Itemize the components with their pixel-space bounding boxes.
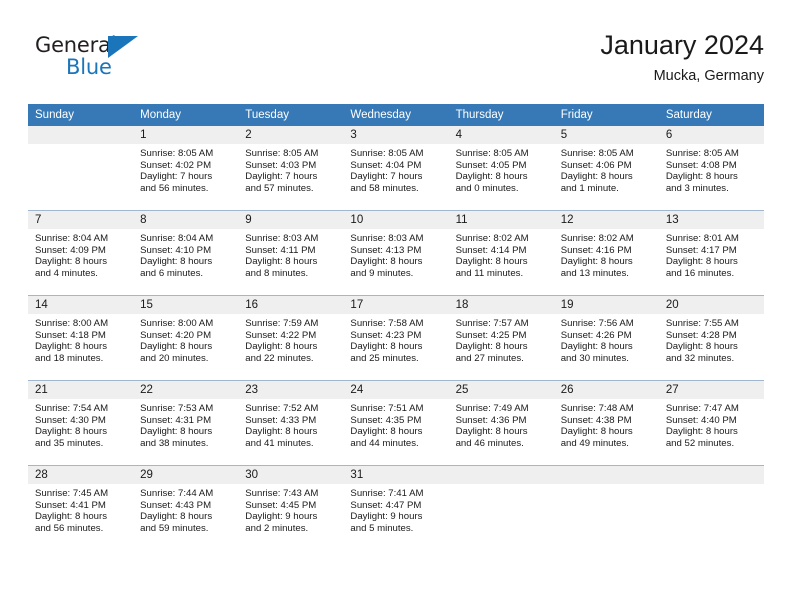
- day-cell-inner: [449, 466, 554, 550]
- calendar-day-cell[interactable]: 9Sunrise: 8:03 AMSunset: 4:11 PMDaylight…: [238, 211, 343, 296]
- day-details: Sunrise: 7:49 AMSunset: 4:36 PMDaylight:…: [449, 399, 554, 449]
- daylight-duration-line2: and 58 minutes.: [350, 183, 442, 195]
- calendar-week-row: 1Sunrise: 8:05 AMSunset: 4:02 PMDaylight…: [28, 126, 764, 211]
- calendar-day-cell-empty: [28, 126, 133, 211]
- sunset-time: Sunset: 4:02 PM: [140, 160, 232, 172]
- day-cell-inner: 27Sunrise: 7:47 AMSunset: 4:40 PMDayligh…: [659, 381, 764, 465]
- day-cell-inner: 29Sunrise: 7:44 AMSunset: 4:43 PMDayligh…: [133, 466, 238, 550]
- logo-text-blue: Blue: [66, 54, 112, 80]
- day-details: Sunrise: 7:41 AMSunset: 4:47 PMDaylight:…: [343, 484, 448, 534]
- calendar-day-cell[interactable]: 5Sunrise: 8:05 AMSunset: 4:06 PMDaylight…: [554, 126, 659, 211]
- weekday-header-friday: Friday: [554, 104, 659, 126]
- sunrise-time: Sunrise: 8:05 AM: [666, 148, 758, 160]
- sunset-time: Sunset: 4:04 PM: [350, 160, 442, 172]
- daylight-duration-line2: and 30 minutes.: [561, 353, 653, 365]
- calendar-day-cell[interactable]: 1Sunrise: 8:05 AMSunset: 4:02 PMDaylight…: [133, 126, 238, 211]
- day-cell-inner: 22Sunrise: 7:53 AMSunset: 4:31 PMDayligh…: [133, 381, 238, 465]
- sunrise-time: Sunrise: 8:04 AM: [35, 233, 127, 245]
- calendar-day-cell[interactable]: 31Sunrise: 7:41 AMSunset: 4:47 PMDayligh…: [343, 466, 448, 551]
- day-cell-inner: 24Sunrise: 7:51 AMSunset: 4:35 PMDayligh…: [343, 381, 448, 465]
- calendar-day-cell[interactable]: 10Sunrise: 8:03 AMSunset: 4:13 PMDayligh…: [343, 211, 448, 296]
- sunset-time: Sunset: 4:11 PM: [245, 245, 337, 257]
- daylight-duration-line1: Daylight: 8 hours: [456, 426, 548, 438]
- day-details: Sunrise: 7:47 AMSunset: 4:40 PMDaylight:…: [659, 399, 764, 449]
- day-details: Sunrise: 8:05 AMSunset: 4:08 PMDaylight:…: [659, 144, 764, 194]
- calendar-day-cell[interactable]: 24Sunrise: 7:51 AMSunset: 4:35 PMDayligh…: [343, 381, 448, 466]
- daylight-duration-line2: and 46 minutes.: [456, 438, 548, 450]
- day-details: Sunrise: 7:58 AMSunset: 4:23 PMDaylight:…: [343, 314, 448, 364]
- day-cell-inner: 14Sunrise: 8:00 AMSunset: 4:18 PMDayligh…: [28, 296, 133, 380]
- day-number: 18: [449, 296, 554, 314]
- day-number: 27: [659, 381, 764, 399]
- calendar-week-row: 21Sunrise: 7:54 AMSunset: 4:30 PMDayligh…: [28, 381, 764, 466]
- day-number: [659, 466, 764, 484]
- sunrise-time: Sunrise: 7:55 AM: [666, 318, 758, 330]
- day-number: 4: [449, 126, 554, 144]
- calendar-day-cell[interactable]: 26Sunrise: 7:48 AMSunset: 4:38 PMDayligh…: [554, 381, 659, 466]
- sunrise-time: Sunrise: 7:51 AM: [350, 403, 442, 415]
- daylight-duration-line2: and 27 minutes.: [456, 353, 548, 365]
- calendar-day-cell[interactable]: 6Sunrise: 8:05 AMSunset: 4:08 PMDaylight…: [659, 126, 764, 211]
- page-header: General Blue January 2024 Mucka, Germany: [28, 28, 764, 98]
- day-number: 16: [238, 296, 343, 314]
- daylight-duration-line2: and 49 minutes.: [561, 438, 653, 450]
- daylight-duration-line2: and 2 minutes.: [245, 523, 337, 535]
- day-details: Sunrise: 8:05 AMSunset: 4:05 PMDaylight:…: [449, 144, 554, 194]
- day-number: 1: [133, 126, 238, 144]
- calendar-day-cell[interactable]: 8Sunrise: 8:04 AMSunset: 4:10 PMDaylight…: [133, 211, 238, 296]
- calendar-body: 1Sunrise: 8:05 AMSunset: 4:02 PMDaylight…: [28, 126, 764, 550]
- day-cell-inner: 26Sunrise: 7:48 AMSunset: 4:38 PMDayligh…: [554, 381, 659, 465]
- sunset-time: Sunset: 4:25 PM: [456, 330, 548, 342]
- daylight-duration-line2: and 35 minutes.: [35, 438, 127, 450]
- daylight-duration-line2: and 56 minutes.: [140, 183, 232, 195]
- sunset-time: Sunset: 4:20 PM: [140, 330, 232, 342]
- daylight-duration-line1: Daylight: 8 hours: [561, 171, 653, 183]
- daylight-duration-line2: and 1 minute.: [561, 183, 653, 195]
- daylight-duration-line2: and 3 minutes.: [666, 183, 758, 195]
- day-cell-inner: 1Sunrise: 8:05 AMSunset: 4:02 PMDaylight…: [133, 126, 238, 210]
- day-cell-inner: 8Sunrise: 8:04 AMSunset: 4:10 PMDaylight…: [133, 211, 238, 295]
- sunset-time: Sunset: 4:35 PM: [350, 415, 442, 427]
- sunrise-time: Sunrise: 8:05 AM: [350, 148, 442, 160]
- daylight-duration-line2: and 4 minutes.: [35, 268, 127, 280]
- sunrise-time: Sunrise: 7:57 AM: [456, 318, 548, 330]
- day-details: Sunrise: 7:52 AMSunset: 4:33 PMDaylight:…: [238, 399, 343, 449]
- calendar-day-cell[interactable]: 28Sunrise: 7:45 AMSunset: 4:41 PMDayligh…: [28, 466, 133, 551]
- page-subtitle-location: Mucka, Germany: [600, 65, 764, 87]
- daylight-duration-line2: and 22 minutes.: [245, 353, 337, 365]
- sunset-time: Sunset: 4:08 PM: [666, 160, 758, 172]
- daylight-duration-line2: and 6 minutes.: [140, 268, 232, 280]
- day-cell-inner: [28, 126, 133, 210]
- daylight-duration-line2: and 56 minutes.: [35, 523, 127, 535]
- day-number: 20: [659, 296, 764, 314]
- daylight-duration-line1: Daylight: 8 hours: [666, 426, 758, 438]
- weekday-header-saturday: Saturday: [659, 104, 764, 126]
- daylight-duration-line1: Daylight: 8 hours: [456, 171, 548, 183]
- sunrise-time: Sunrise: 7:58 AM: [350, 318, 442, 330]
- day-cell-inner: 4Sunrise: 8:05 AMSunset: 4:05 PMDaylight…: [449, 126, 554, 210]
- calendar-day-cell[interactable]: 21Sunrise: 7:54 AMSunset: 4:30 PMDayligh…: [28, 381, 133, 466]
- sunrise-time: Sunrise: 7:53 AM: [140, 403, 232, 415]
- calendar-grid: Sunday Monday Tuesday Wednesday Thursday…: [28, 104, 764, 550]
- daylight-duration-line1: Daylight: 8 hours: [666, 171, 758, 183]
- daylight-duration-line2: and 25 minutes.: [350, 353, 442, 365]
- day-cell-inner: 28Sunrise: 7:45 AMSunset: 4:41 PMDayligh…: [28, 466, 133, 550]
- day-number: 31: [343, 466, 448, 484]
- daylight-duration-line1: Daylight: 7 hours: [140, 171, 232, 183]
- day-number: 6: [659, 126, 764, 144]
- calendar-day-cell[interactable]: 18Sunrise: 7:57 AMSunset: 4:25 PMDayligh…: [449, 296, 554, 381]
- daylight-duration-line2: and 57 minutes.: [245, 183, 337, 195]
- day-details: Sunrise: 8:05 AMSunset: 4:02 PMDaylight:…: [133, 144, 238, 194]
- daylight-duration-line2: and 59 minutes.: [140, 523, 232, 535]
- daylight-duration-line1: Daylight: 8 hours: [350, 256, 442, 268]
- sunset-time: Sunset: 4:22 PM: [245, 330, 337, 342]
- calendar-week-row: 7Sunrise: 8:04 AMSunset: 4:09 PMDaylight…: [28, 211, 764, 296]
- day-details: Sunrise: 8:00 AMSunset: 4:18 PMDaylight:…: [28, 314, 133, 364]
- day-details: Sunrise: 8:01 AMSunset: 4:17 PMDaylight:…: [659, 229, 764, 279]
- daylight-duration-line1: Daylight: 8 hours: [561, 256, 653, 268]
- day-cell-inner: 17Sunrise: 7:58 AMSunset: 4:23 PMDayligh…: [343, 296, 448, 380]
- sunset-time: Sunset: 4:18 PM: [35, 330, 127, 342]
- calendar-day-cell[interactable]: 2Sunrise: 8:05 AMSunset: 4:03 PMDaylight…: [238, 126, 343, 211]
- day-number: 17: [343, 296, 448, 314]
- daylight-duration-line1: Daylight: 8 hours: [666, 256, 758, 268]
- daylight-duration-line1: Daylight: 8 hours: [140, 341, 232, 353]
- day-number: [554, 466, 659, 484]
- sunset-time: Sunset: 4:06 PM: [561, 160, 653, 172]
- day-cell-inner: 5Sunrise: 8:05 AMSunset: 4:06 PMDaylight…: [554, 126, 659, 210]
- daylight-duration-line2: and 8 minutes.: [245, 268, 337, 280]
- day-details: Sunrise: 7:54 AMSunset: 4:30 PMDaylight:…: [28, 399, 133, 449]
- sunset-time: Sunset: 4:26 PM: [561, 330, 653, 342]
- sunrise-time: Sunrise: 8:05 AM: [245, 148, 337, 160]
- calendar-day-cell[interactable]: 11Sunrise: 8:02 AMSunset: 4:14 PMDayligh…: [449, 211, 554, 296]
- daylight-duration-line1: Daylight: 9 hours: [350, 511, 442, 523]
- calendar-day-cell[interactable]: 14Sunrise: 8:00 AMSunset: 4:18 PMDayligh…: [28, 296, 133, 381]
- general-blue-logo[interactable]: General Blue: [35, 32, 155, 86]
- day-details: Sunrise: 7:56 AMSunset: 4:26 PMDaylight:…: [554, 314, 659, 364]
- daylight-duration-line2: and 52 minutes.: [666, 438, 758, 450]
- weekday-header-wednesday: Wednesday: [343, 104, 448, 126]
- day-details: Sunrise: 8:04 AMSunset: 4:10 PMDaylight:…: [133, 229, 238, 279]
- day-cell-inner: 18Sunrise: 7:57 AMSunset: 4:25 PMDayligh…: [449, 296, 554, 380]
- day-details: Sunrise: 7:51 AMSunset: 4:35 PMDaylight:…: [343, 399, 448, 449]
- calendar-day-cell[interactable]: 4Sunrise: 8:05 AMSunset: 4:05 PMDaylight…: [449, 126, 554, 211]
- day-number: 2: [238, 126, 343, 144]
- sunset-time: Sunset: 4:05 PM: [456, 160, 548, 172]
- day-details: Sunrise: 7:57 AMSunset: 4:25 PMDaylight:…: [449, 314, 554, 364]
- daylight-duration-line2: and 16 minutes.: [666, 268, 758, 280]
- daylight-duration-line1: Daylight: 8 hours: [245, 341, 337, 353]
- daylight-duration-line2: and 18 minutes.: [35, 353, 127, 365]
- sunset-time: Sunset: 4:16 PM: [561, 245, 653, 257]
- day-number: 13: [659, 211, 764, 229]
- sunset-time: Sunset: 4:47 PM: [350, 500, 442, 512]
- sunrise-time: Sunrise: 8:03 AM: [350, 233, 442, 245]
- day-number: 12: [554, 211, 659, 229]
- day-cell-inner: 16Sunrise: 7:59 AMSunset: 4:22 PMDayligh…: [238, 296, 343, 380]
- sunrise-time: Sunrise: 7:47 AM: [666, 403, 758, 415]
- calendar-week-row: 28Sunrise: 7:45 AMSunset: 4:41 PMDayligh…: [28, 466, 764, 551]
- daylight-duration-line2: and 13 minutes.: [561, 268, 653, 280]
- day-details: Sunrise: 7:59 AMSunset: 4:22 PMDaylight:…: [238, 314, 343, 364]
- sunset-time: Sunset: 4:41 PM: [35, 500, 127, 512]
- sunset-time: Sunset: 4:10 PM: [140, 245, 232, 257]
- day-number: 19: [554, 296, 659, 314]
- day-cell-inner: 9Sunrise: 8:03 AMSunset: 4:11 PMDaylight…: [238, 211, 343, 295]
- day-cell-inner: 2Sunrise: 8:05 AMSunset: 4:03 PMDaylight…: [238, 126, 343, 210]
- day-number: 28: [28, 466, 133, 484]
- daylight-duration-line1: Daylight: 8 hours: [245, 426, 337, 438]
- day-number: 25: [449, 381, 554, 399]
- sunrise-time: Sunrise: 7:48 AM: [561, 403, 653, 415]
- daylight-duration-line1: Daylight: 8 hours: [35, 256, 127, 268]
- calendar-day-cell[interactable]: 22Sunrise: 7:53 AMSunset: 4:31 PMDayligh…: [133, 381, 238, 466]
- sunrise-time: Sunrise: 8:02 AM: [456, 233, 548, 245]
- day-cell-inner: 13Sunrise: 8:01 AMSunset: 4:17 PMDayligh…: [659, 211, 764, 295]
- day-details: Sunrise: 8:03 AMSunset: 4:13 PMDaylight:…: [343, 229, 448, 279]
- daylight-duration-line2: and 20 minutes.: [140, 353, 232, 365]
- daylight-duration-line2: and 38 minutes.: [140, 438, 232, 450]
- sunrise-time: Sunrise: 8:01 AM: [666, 233, 758, 245]
- day-number: [28, 126, 133, 144]
- title-block: January 2024 Mucka, Germany: [600, 28, 764, 87]
- calendar-day-cell-empty: [449, 466, 554, 551]
- daylight-duration-line2: and 44 minutes.: [350, 438, 442, 450]
- calendar-day-cell[interactable]: 23Sunrise: 7:52 AMSunset: 4:33 PMDayligh…: [238, 381, 343, 466]
- daylight-duration-line1: Daylight: 9 hours: [245, 511, 337, 523]
- daylight-duration-line1: Daylight: 8 hours: [140, 511, 232, 523]
- daylight-duration-line1: Daylight: 8 hours: [140, 256, 232, 268]
- sunset-time: Sunset: 4:03 PM: [245, 160, 337, 172]
- day-details: Sunrise: 7:43 AMSunset: 4:45 PMDaylight:…: [238, 484, 343, 534]
- day-details: Sunrise: 8:05 AMSunset: 4:06 PMDaylight:…: [554, 144, 659, 194]
- daylight-duration-line1: Daylight: 8 hours: [245, 256, 337, 268]
- sunset-time: Sunset: 4:09 PM: [35, 245, 127, 257]
- day-details: Sunrise: 7:44 AMSunset: 4:43 PMDaylight:…: [133, 484, 238, 534]
- day-number: 9: [238, 211, 343, 229]
- sunrise-time: Sunrise: 7:44 AM: [140, 488, 232, 500]
- sunset-time: Sunset: 4:23 PM: [350, 330, 442, 342]
- day-cell-inner: 11Sunrise: 8:02 AMSunset: 4:14 PMDayligh…: [449, 211, 554, 295]
- daylight-duration-line2: and 9 minutes.: [350, 268, 442, 280]
- calendar-day-cell[interactable]: 25Sunrise: 7:49 AMSunset: 4:36 PMDayligh…: [449, 381, 554, 466]
- day-cell-inner: 30Sunrise: 7:43 AMSunset: 4:45 PMDayligh…: [238, 466, 343, 550]
- daylight-duration-line1: Daylight: 8 hours: [35, 511, 127, 523]
- daylight-duration-line2: and 32 minutes.: [666, 353, 758, 365]
- day-details: Sunrise: 8:04 AMSunset: 4:09 PMDaylight:…: [28, 229, 133, 279]
- day-cell-inner: 10Sunrise: 8:03 AMSunset: 4:13 PMDayligh…: [343, 211, 448, 295]
- calendar-header-row: Sunday Monday Tuesday Wednesday Thursday…: [28, 104, 764, 126]
- day-cell-inner: 3Sunrise: 8:05 AMSunset: 4:04 PMDaylight…: [343, 126, 448, 210]
- day-number: 26: [554, 381, 659, 399]
- day-cell-inner: 25Sunrise: 7:49 AMSunset: 4:36 PMDayligh…: [449, 381, 554, 465]
- sunrise-time: Sunrise: 7:56 AM: [561, 318, 653, 330]
- calendar-day-cell-empty: [554, 466, 659, 551]
- day-details: Sunrise: 8:05 AMSunset: 4:03 PMDaylight:…: [238, 144, 343, 194]
- sunrise-time: Sunrise: 7:54 AM: [35, 403, 127, 415]
- day-details: Sunrise: 8:05 AMSunset: 4:04 PMDaylight:…: [343, 144, 448, 194]
- sunrise-time: Sunrise: 7:59 AM: [245, 318, 337, 330]
- day-details: Sunrise: 8:02 AMSunset: 4:14 PMDaylight:…: [449, 229, 554, 279]
- day-number: 23: [238, 381, 343, 399]
- day-details: Sunrise: 7:53 AMSunset: 4:31 PMDaylight:…: [133, 399, 238, 449]
- calendar-day-cell[interactable]: 29Sunrise: 7:44 AMSunset: 4:43 PMDayligh…: [133, 466, 238, 551]
- sunrise-time: Sunrise: 8:00 AM: [35, 318, 127, 330]
- calendar-day-cell[interactable]: 17Sunrise: 7:58 AMSunset: 4:23 PMDayligh…: [343, 296, 448, 381]
- sunrise-time: Sunrise: 8:02 AM: [561, 233, 653, 245]
- page-title: January 2024: [600, 28, 764, 62]
- calendar-day-cell[interactable]: 30Sunrise: 7:43 AMSunset: 4:45 PMDayligh…: [238, 466, 343, 551]
- blue-triangle-flag-icon: [108, 36, 138, 58]
- weekday-header-tuesday: Tuesday: [238, 104, 343, 126]
- daylight-duration-line1: Daylight: 8 hours: [561, 341, 653, 353]
- sunset-time: Sunset: 4:30 PM: [35, 415, 127, 427]
- day-cell-inner: 31Sunrise: 7:41 AMSunset: 4:47 PMDayligh…: [343, 466, 448, 550]
- daylight-duration-line1: Daylight: 8 hours: [456, 256, 548, 268]
- day-number: 10: [343, 211, 448, 229]
- sunrise-time: Sunrise: 7:45 AM: [35, 488, 127, 500]
- sunset-time: Sunset: 4:38 PM: [561, 415, 653, 427]
- daylight-duration-line1: Daylight: 8 hours: [350, 426, 442, 438]
- sunset-time: Sunset: 4:33 PM: [245, 415, 337, 427]
- day-cell-inner: 7Sunrise: 8:04 AMSunset: 4:09 PMDaylight…: [28, 211, 133, 295]
- day-number: 30: [238, 466, 343, 484]
- sunset-time: Sunset: 4:13 PM: [350, 245, 442, 257]
- sunrise-time: Sunrise: 8:00 AM: [140, 318, 232, 330]
- day-cell-inner: 19Sunrise: 7:56 AMSunset: 4:26 PMDayligh…: [554, 296, 659, 380]
- sunrise-time: Sunrise: 7:52 AM: [245, 403, 337, 415]
- daylight-duration-line1: Daylight: 7 hours: [245, 171, 337, 183]
- weekday-header-thursday: Thursday: [449, 104, 554, 126]
- day-number: 5: [554, 126, 659, 144]
- day-details: Sunrise: 7:48 AMSunset: 4:38 PMDaylight:…: [554, 399, 659, 449]
- weekday-header-monday: Monday: [133, 104, 238, 126]
- daylight-duration-line1: Daylight: 8 hours: [140, 426, 232, 438]
- day-cell-inner: [554, 466, 659, 550]
- day-details: Sunrise: 8:00 AMSunset: 4:20 PMDaylight:…: [133, 314, 238, 364]
- daylight-duration-line2: and 41 minutes.: [245, 438, 337, 450]
- day-number: 11: [449, 211, 554, 229]
- sunset-time: Sunset: 4:17 PM: [666, 245, 758, 257]
- day-cell-inner: 15Sunrise: 8:00 AMSunset: 4:20 PMDayligh…: [133, 296, 238, 380]
- day-number: 14: [28, 296, 133, 314]
- calendar-day-cell[interactable]: 15Sunrise: 8:00 AMSunset: 4:20 PMDayligh…: [133, 296, 238, 381]
- day-cell-inner: 21Sunrise: 7:54 AMSunset: 4:30 PMDayligh…: [28, 381, 133, 465]
- day-number: 7: [28, 211, 133, 229]
- day-cell-inner: 6Sunrise: 8:05 AMSunset: 4:08 PMDaylight…: [659, 126, 764, 210]
- sunrise-time: Sunrise: 8:05 AM: [456, 148, 548, 160]
- daylight-duration-line1: Daylight: 7 hours: [350, 171, 442, 183]
- calendar-day-cell[interactable]: 19Sunrise: 7:56 AMSunset: 4:26 PMDayligh…: [554, 296, 659, 381]
- day-details: Sunrise: 8:03 AMSunset: 4:11 PMDaylight:…: [238, 229, 343, 279]
- calendar-day-cell[interactable]: 13Sunrise: 8:01 AMSunset: 4:17 PMDayligh…: [659, 211, 764, 296]
- day-cell-inner: 20Sunrise: 7:55 AMSunset: 4:28 PMDayligh…: [659, 296, 764, 380]
- daylight-duration-line1: Daylight: 8 hours: [35, 341, 127, 353]
- day-details: Sunrise: 7:45 AMSunset: 4:41 PMDaylight:…: [28, 484, 133, 534]
- daylight-duration-line1: Daylight: 8 hours: [350, 341, 442, 353]
- calendar-day-cell-empty: [659, 466, 764, 551]
- day-number: 29: [133, 466, 238, 484]
- day-number: 15: [133, 296, 238, 314]
- sunrise-time: Sunrise: 7:43 AM: [245, 488, 337, 500]
- sunset-time: Sunset: 4:28 PM: [666, 330, 758, 342]
- day-number: 3: [343, 126, 448, 144]
- sunrise-time: Sunrise: 7:41 AM: [350, 488, 442, 500]
- day-number: 22: [133, 381, 238, 399]
- daylight-duration-line1: Daylight: 8 hours: [666, 341, 758, 353]
- daylight-duration-line1: Daylight: 8 hours: [561, 426, 653, 438]
- day-cell-inner: 23Sunrise: 7:52 AMSunset: 4:33 PMDayligh…: [238, 381, 343, 465]
- sunset-time: Sunset: 4:43 PM: [140, 500, 232, 512]
- sunrise-time: Sunrise: 7:49 AM: [456, 403, 548, 415]
- day-number: 21: [28, 381, 133, 399]
- daylight-duration-line2: and 0 minutes.: [456, 183, 548, 195]
- sunrise-time: Sunrise: 8:05 AM: [140, 148, 232, 160]
- day-number: [449, 466, 554, 484]
- sunrise-time: Sunrise: 8:04 AM: [140, 233, 232, 245]
- sunset-time: Sunset: 4:36 PM: [456, 415, 548, 427]
- sunset-time: Sunset: 4:14 PM: [456, 245, 548, 257]
- calendar-week-row: 14Sunrise: 8:00 AMSunset: 4:18 PMDayligh…: [28, 296, 764, 381]
- calendar-day-cell[interactable]: 7Sunrise: 8:04 AMSunset: 4:09 PMDaylight…: [28, 211, 133, 296]
- daylight-duration-line1: Daylight: 8 hours: [456, 341, 548, 353]
- sunset-time: Sunset: 4:31 PM: [140, 415, 232, 427]
- day-cell-inner: [659, 466, 764, 550]
- sunset-time: Sunset: 4:45 PM: [245, 500, 337, 512]
- sunrise-time: Sunrise: 8:05 AM: [561, 148, 653, 160]
- weekday-header-sunday: Sunday: [28, 104, 133, 126]
- day-number: 24: [343, 381, 448, 399]
- calendar-day-cell[interactable]: 3Sunrise: 8:05 AMSunset: 4:04 PMDaylight…: [343, 126, 448, 211]
- calendar-day-cell[interactable]: 16Sunrise: 7:59 AMSunset: 4:22 PMDayligh…: [238, 296, 343, 381]
- calendar-page: General Blue January 2024 Mucka, Germany…: [0, 0, 792, 612]
- day-number: 8: [133, 211, 238, 229]
- day-cell-inner: 12Sunrise: 8:02 AMSunset: 4:16 PMDayligh…: [554, 211, 659, 295]
- calendar-day-cell[interactable]: 12Sunrise: 8:02 AMSunset: 4:16 PMDayligh…: [554, 211, 659, 296]
- sunrise-time: Sunrise: 8:03 AM: [245, 233, 337, 245]
- day-details: Sunrise: 7:55 AMSunset: 4:28 PMDaylight:…: [659, 314, 764, 364]
- calendar-day-cell[interactable]: 20Sunrise: 7:55 AMSunset: 4:28 PMDayligh…: [659, 296, 764, 381]
- calendar-day-cell[interactable]: 27Sunrise: 7:47 AMSunset: 4:40 PMDayligh…: [659, 381, 764, 466]
- day-details: Sunrise: 8:02 AMSunset: 4:16 PMDaylight:…: [554, 229, 659, 279]
- daylight-duration-line2: and 11 minutes.: [456, 268, 548, 280]
- daylight-duration-line1: Daylight: 8 hours: [35, 426, 127, 438]
- daylight-duration-line2: and 5 minutes.: [350, 523, 442, 535]
- sunset-time: Sunset: 4:40 PM: [666, 415, 758, 427]
